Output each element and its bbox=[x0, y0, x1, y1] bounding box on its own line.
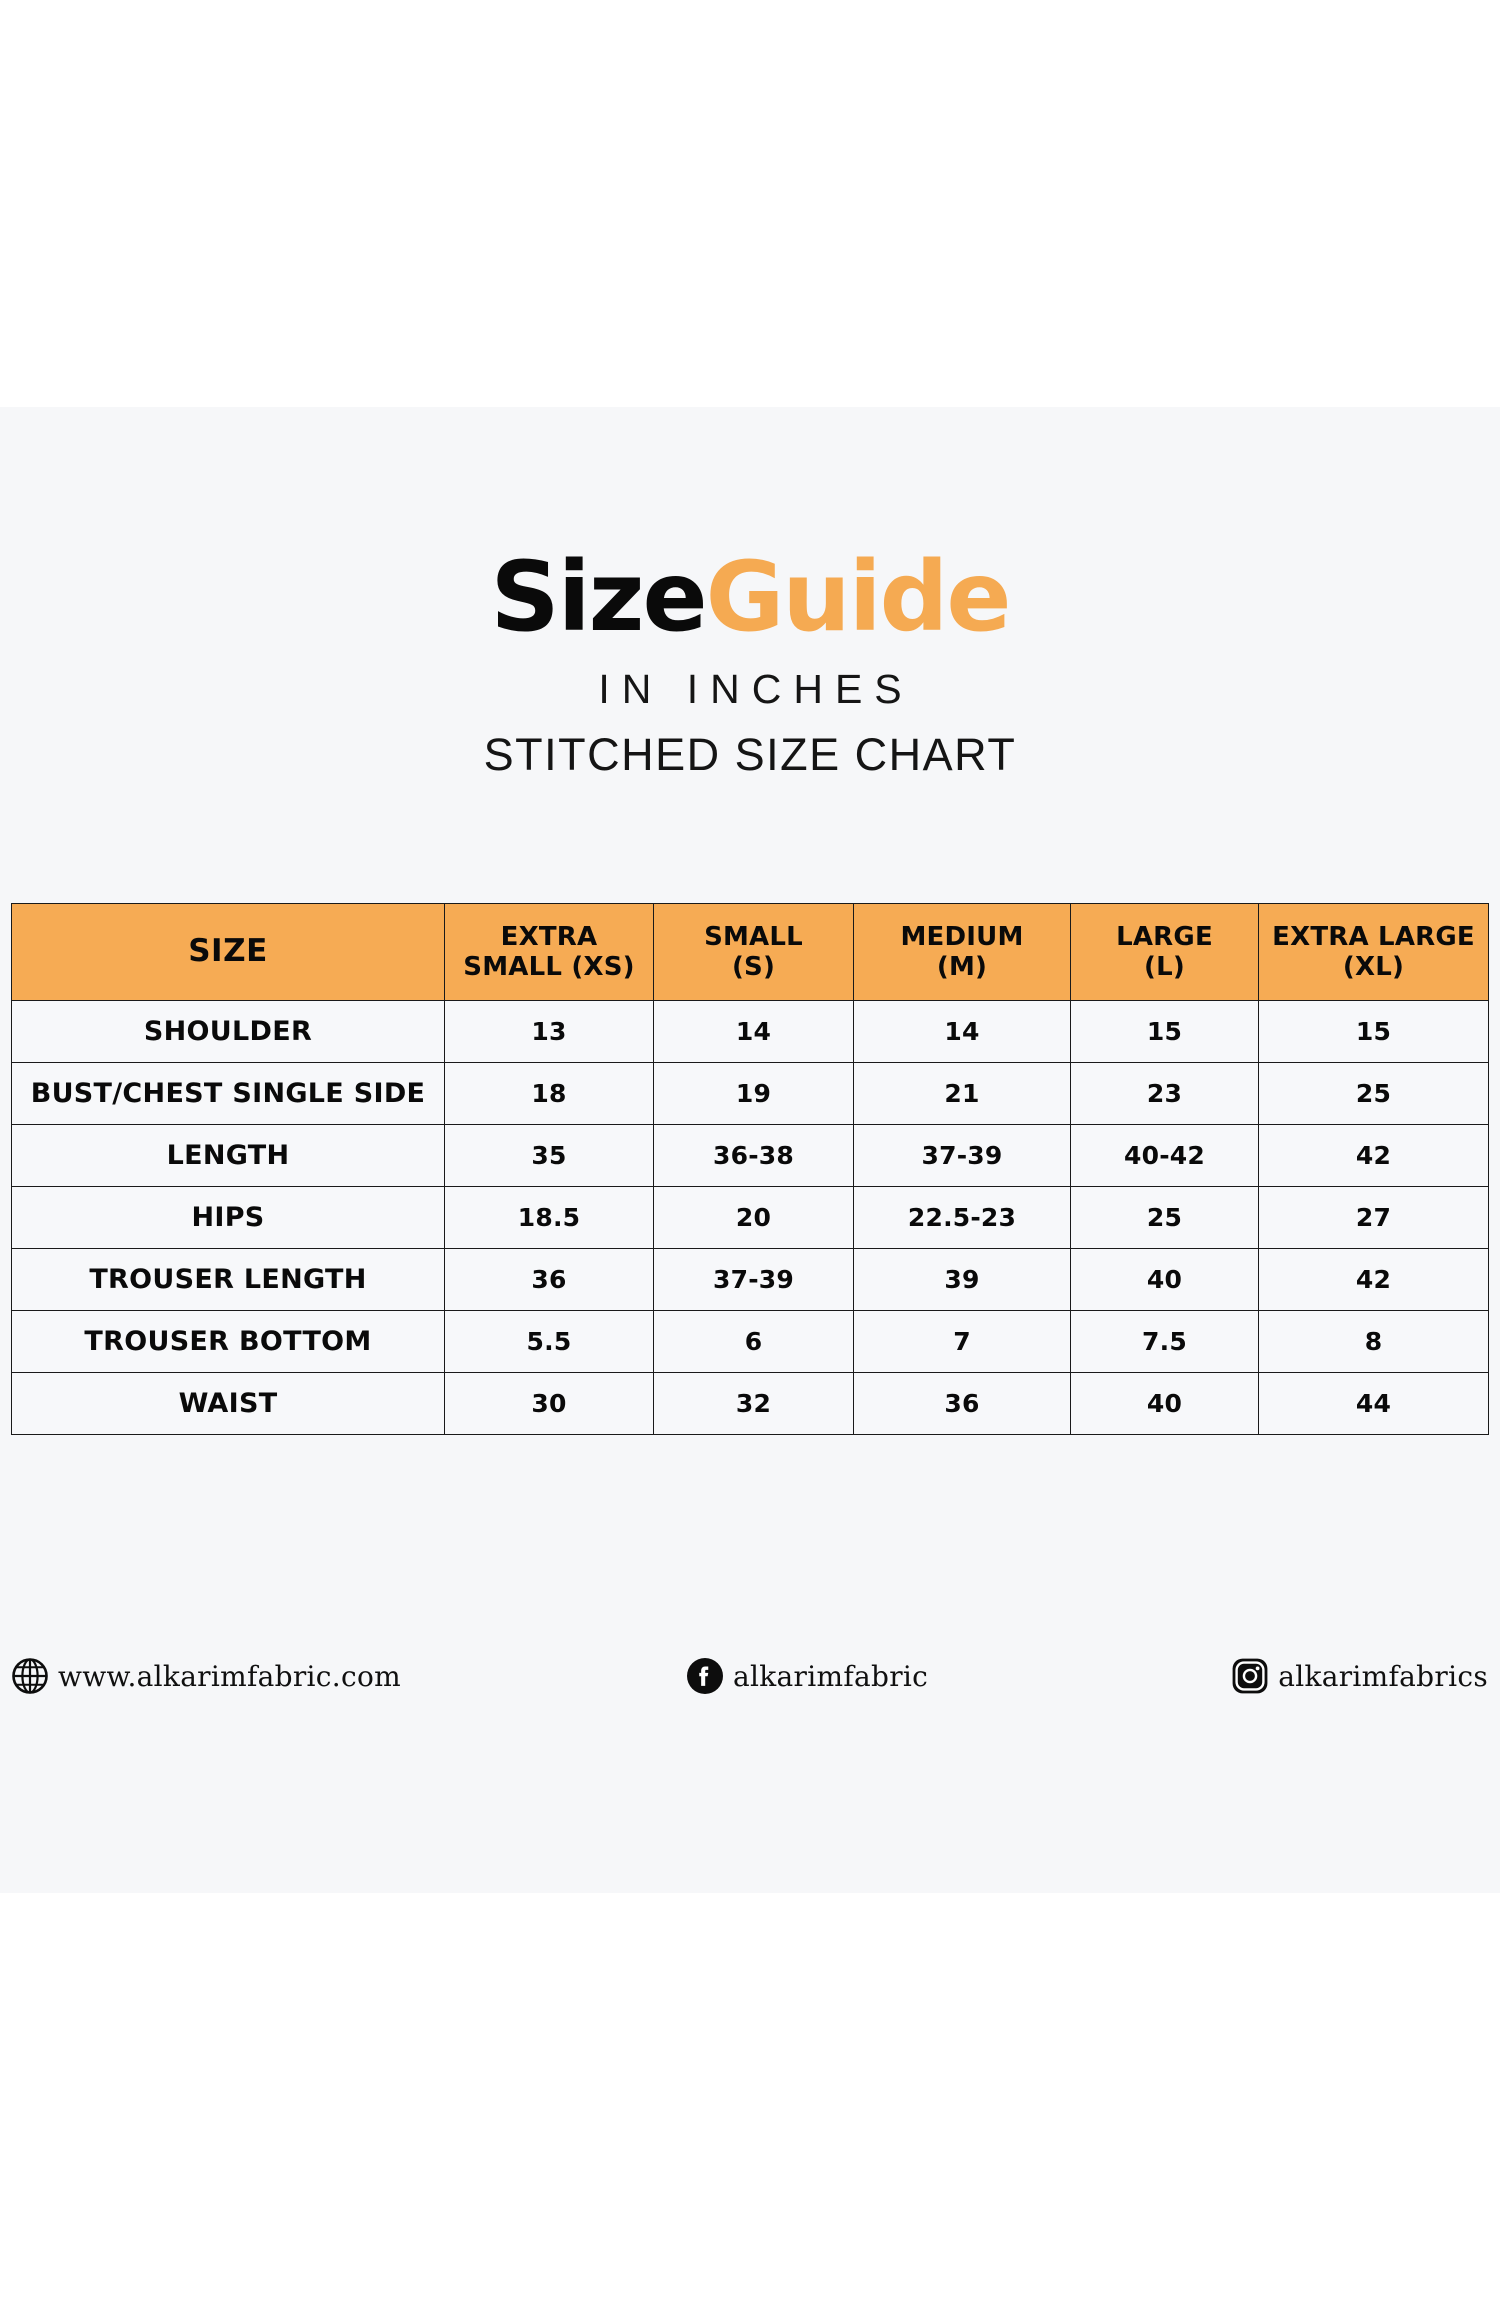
column-header-xl: EXTRA LARGE (XL) bbox=[1259, 904, 1489, 1001]
cell-m: 22.5-23 bbox=[854, 1187, 1071, 1249]
column-header-s-line1: SMALL bbox=[654, 922, 853, 952]
cell-m: 14 bbox=[854, 1001, 1071, 1063]
cell-m: 7 bbox=[854, 1311, 1071, 1373]
cell-xs: 18.5 bbox=[445, 1187, 654, 1249]
cell-xs: 36 bbox=[445, 1249, 654, 1311]
instagram-icon bbox=[1231, 1657, 1269, 1695]
column-header-l: LARGE (L) bbox=[1071, 904, 1259, 1001]
globe-icon bbox=[11, 1657, 49, 1695]
subtitle-chart-name: STITCHED SIZE CHART bbox=[0, 732, 1500, 777]
cell-xs: 30 bbox=[445, 1373, 654, 1435]
table-header-row: SIZE EXTRA SMALL (XS) SMALL (S) MEDIUM bbox=[12, 904, 1489, 1001]
cell-m: 21 bbox=[854, 1063, 1071, 1125]
column-header-size-label: SIZE bbox=[12, 934, 444, 970]
subtitle-units: IN INCHES bbox=[0, 669, 1500, 710]
cell-s: 37-39 bbox=[654, 1249, 854, 1311]
title-block: SizeGuide IN INCHES STITCHED SIZE CHART bbox=[0, 549, 1500, 777]
title-word-size: Size bbox=[491, 541, 706, 653]
column-header-s-line2: (S) bbox=[654, 952, 853, 982]
cell-l: 23 bbox=[1071, 1063, 1259, 1125]
table-row: HIPS 18.5 20 22.5-23 25 27 bbox=[12, 1187, 1489, 1249]
row-label: HIPS bbox=[12, 1187, 445, 1249]
cell-xl: 15 bbox=[1259, 1001, 1489, 1063]
table-row: WAIST 30 32 36 40 44 bbox=[12, 1373, 1489, 1435]
column-header-m-line1: MEDIUM bbox=[854, 922, 1070, 952]
column-header-l-line2: (L) bbox=[1071, 952, 1258, 982]
cell-xl: 42 bbox=[1259, 1125, 1489, 1187]
column-header-xs: EXTRA SMALL (XS) bbox=[445, 904, 654, 1001]
size-table-head: SIZE EXTRA SMALL (XS) SMALL (S) MEDIUM bbox=[12, 904, 1489, 1001]
title-word-guide: Guide bbox=[706, 541, 1010, 653]
footer-instagram-label: alkarimfabrics bbox=[1278, 1660, 1488, 1693]
cell-xl: 44 bbox=[1259, 1373, 1489, 1435]
cell-l: 15 bbox=[1071, 1001, 1259, 1063]
row-label: WAIST bbox=[12, 1373, 445, 1435]
cell-s: 36-38 bbox=[654, 1125, 854, 1187]
row-label: BUST/CHEST SINGLE SIDE bbox=[12, 1063, 445, 1125]
cell-m: 37-39 bbox=[854, 1125, 1071, 1187]
row-label: SHOULDER bbox=[12, 1001, 445, 1063]
table-row: TROUSER LENGTH 36 37-39 39 40 42 bbox=[12, 1249, 1489, 1311]
cell-xs: 35 bbox=[445, 1125, 654, 1187]
cell-l: 7.5 bbox=[1071, 1311, 1259, 1373]
facebook-icon bbox=[686, 1657, 724, 1695]
size-guide-card: SizeGuide IN INCHES STITCHED SIZE CHART … bbox=[0, 407, 1500, 1893]
column-header-xl-line1: EXTRA LARGE bbox=[1259, 922, 1488, 952]
footer-contact-bar: www.alkarimfabric.com alkarimfabric bbox=[11, 1657, 1488, 1695]
footer-instagram[interactable]: alkarimfabrics bbox=[1231, 1657, 1488, 1695]
cell-s: 32 bbox=[654, 1373, 854, 1435]
cell-xs: 13 bbox=[445, 1001, 654, 1063]
column-header-xs-line1: EXTRA bbox=[445, 922, 653, 952]
cell-l: 40 bbox=[1071, 1373, 1259, 1435]
cell-s: 6 bbox=[654, 1311, 854, 1373]
size-table: SIZE EXTRA SMALL (XS) SMALL (S) MEDIUM bbox=[11, 903, 1489, 1435]
cell-m: 39 bbox=[854, 1249, 1071, 1311]
column-header-xl-line2: (XL) bbox=[1259, 952, 1488, 982]
column-header-size: SIZE bbox=[12, 904, 445, 1001]
cell-l: 40 bbox=[1071, 1249, 1259, 1311]
cell-xl: 25 bbox=[1259, 1063, 1489, 1125]
cell-s: 19 bbox=[654, 1063, 854, 1125]
footer-facebook[interactable]: alkarimfabric bbox=[686, 1657, 928, 1695]
column-header-l-line1: LARGE bbox=[1071, 922, 1258, 952]
cell-l: 25 bbox=[1071, 1187, 1259, 1249]
table-row: LENGTH 35 36-38 37-39 40-42 42 bbox=[12, 1125, 1489, 1187]
cell-s: 20 bbox=[654, 1187, 854, 1249]
cell-l: 40-42 bbox=[1071, 1125, 1259, 1187]
cell-xl: 42 bbox=[1259, 1249, 1489, 1311]
column-header-s: SMALL (S) bbox=[654, 904, 854, 1001]
cell-s: 14 bbox=[654, 1001, 854, 1063]
row-label: TROUSER LENGTH bbox=[12, 1249, 445, 1311]
column-header-m-line2: (M) bbox=[854, 952, 1070, 982]
size-guide-page: SizeGuide IN INCHES STITCHED SIZE CHART … bbox=[0, 0, 1500, 2300]
size-table-wrap: SIZE EXTRA SMALL (XS) SMALL (S) MEDIUM bbox=[11, 903, 1488, 1435]
footer-facebook-label: alkarimfabric bbox=[733, 1660, 928, 1693]
cell-xl: 27 bbox=[1259, 1187, 1489, 1249]
row-label: TROUSER BOTTOM bbox=[12, 1311, 445, 1373]
cell-m: 36 bbox=[854, 1373, 1071, 1435]
column-header-m: MEDIUM (M) bbox=[854, 904, 1071, 1001]
cell-xs: 18 bbox=[445, 1063, 654, 1125]
table-row: BUST/CHEST SINGLE SIDE 18 19 21 23 25 bbox=[12, 1063, 1489, 1125]
row-label: LENGTH bbox=[12, 1125, 445, 1187]
footer-website-label: www.alkarimfabric.com bbox=[58, 1660, 401, 1693]
footer-website[interactable]: www.alkarimfabric.com bbox=[11, 1657, 401, 1695]
page-title: SizeGuide bbox=[0, 549, 1500, 645]
table-row: TROUSER BOTTOM 5.5 6 7 7.5 8 bbox=[12, 1311, 1489, 1373]
column-header-xs-line2: SMALL (XS) bbox=[445, 952, 653, 982]
cell-xs: 5.5 bbox=[445, 1311, 654, 1373]
size-table-body: SHOULDER 13 14 14 15 15 BUST/CHEST SINGL… bbox=[12, 1001, 1489, 1435]
cell-xl: 8 bbox=[1259, 1311, 1489, 1373]
table-row: SHOULDER 13 14 14 15 15 bbox=[12, 1001, 1489, 1063]
